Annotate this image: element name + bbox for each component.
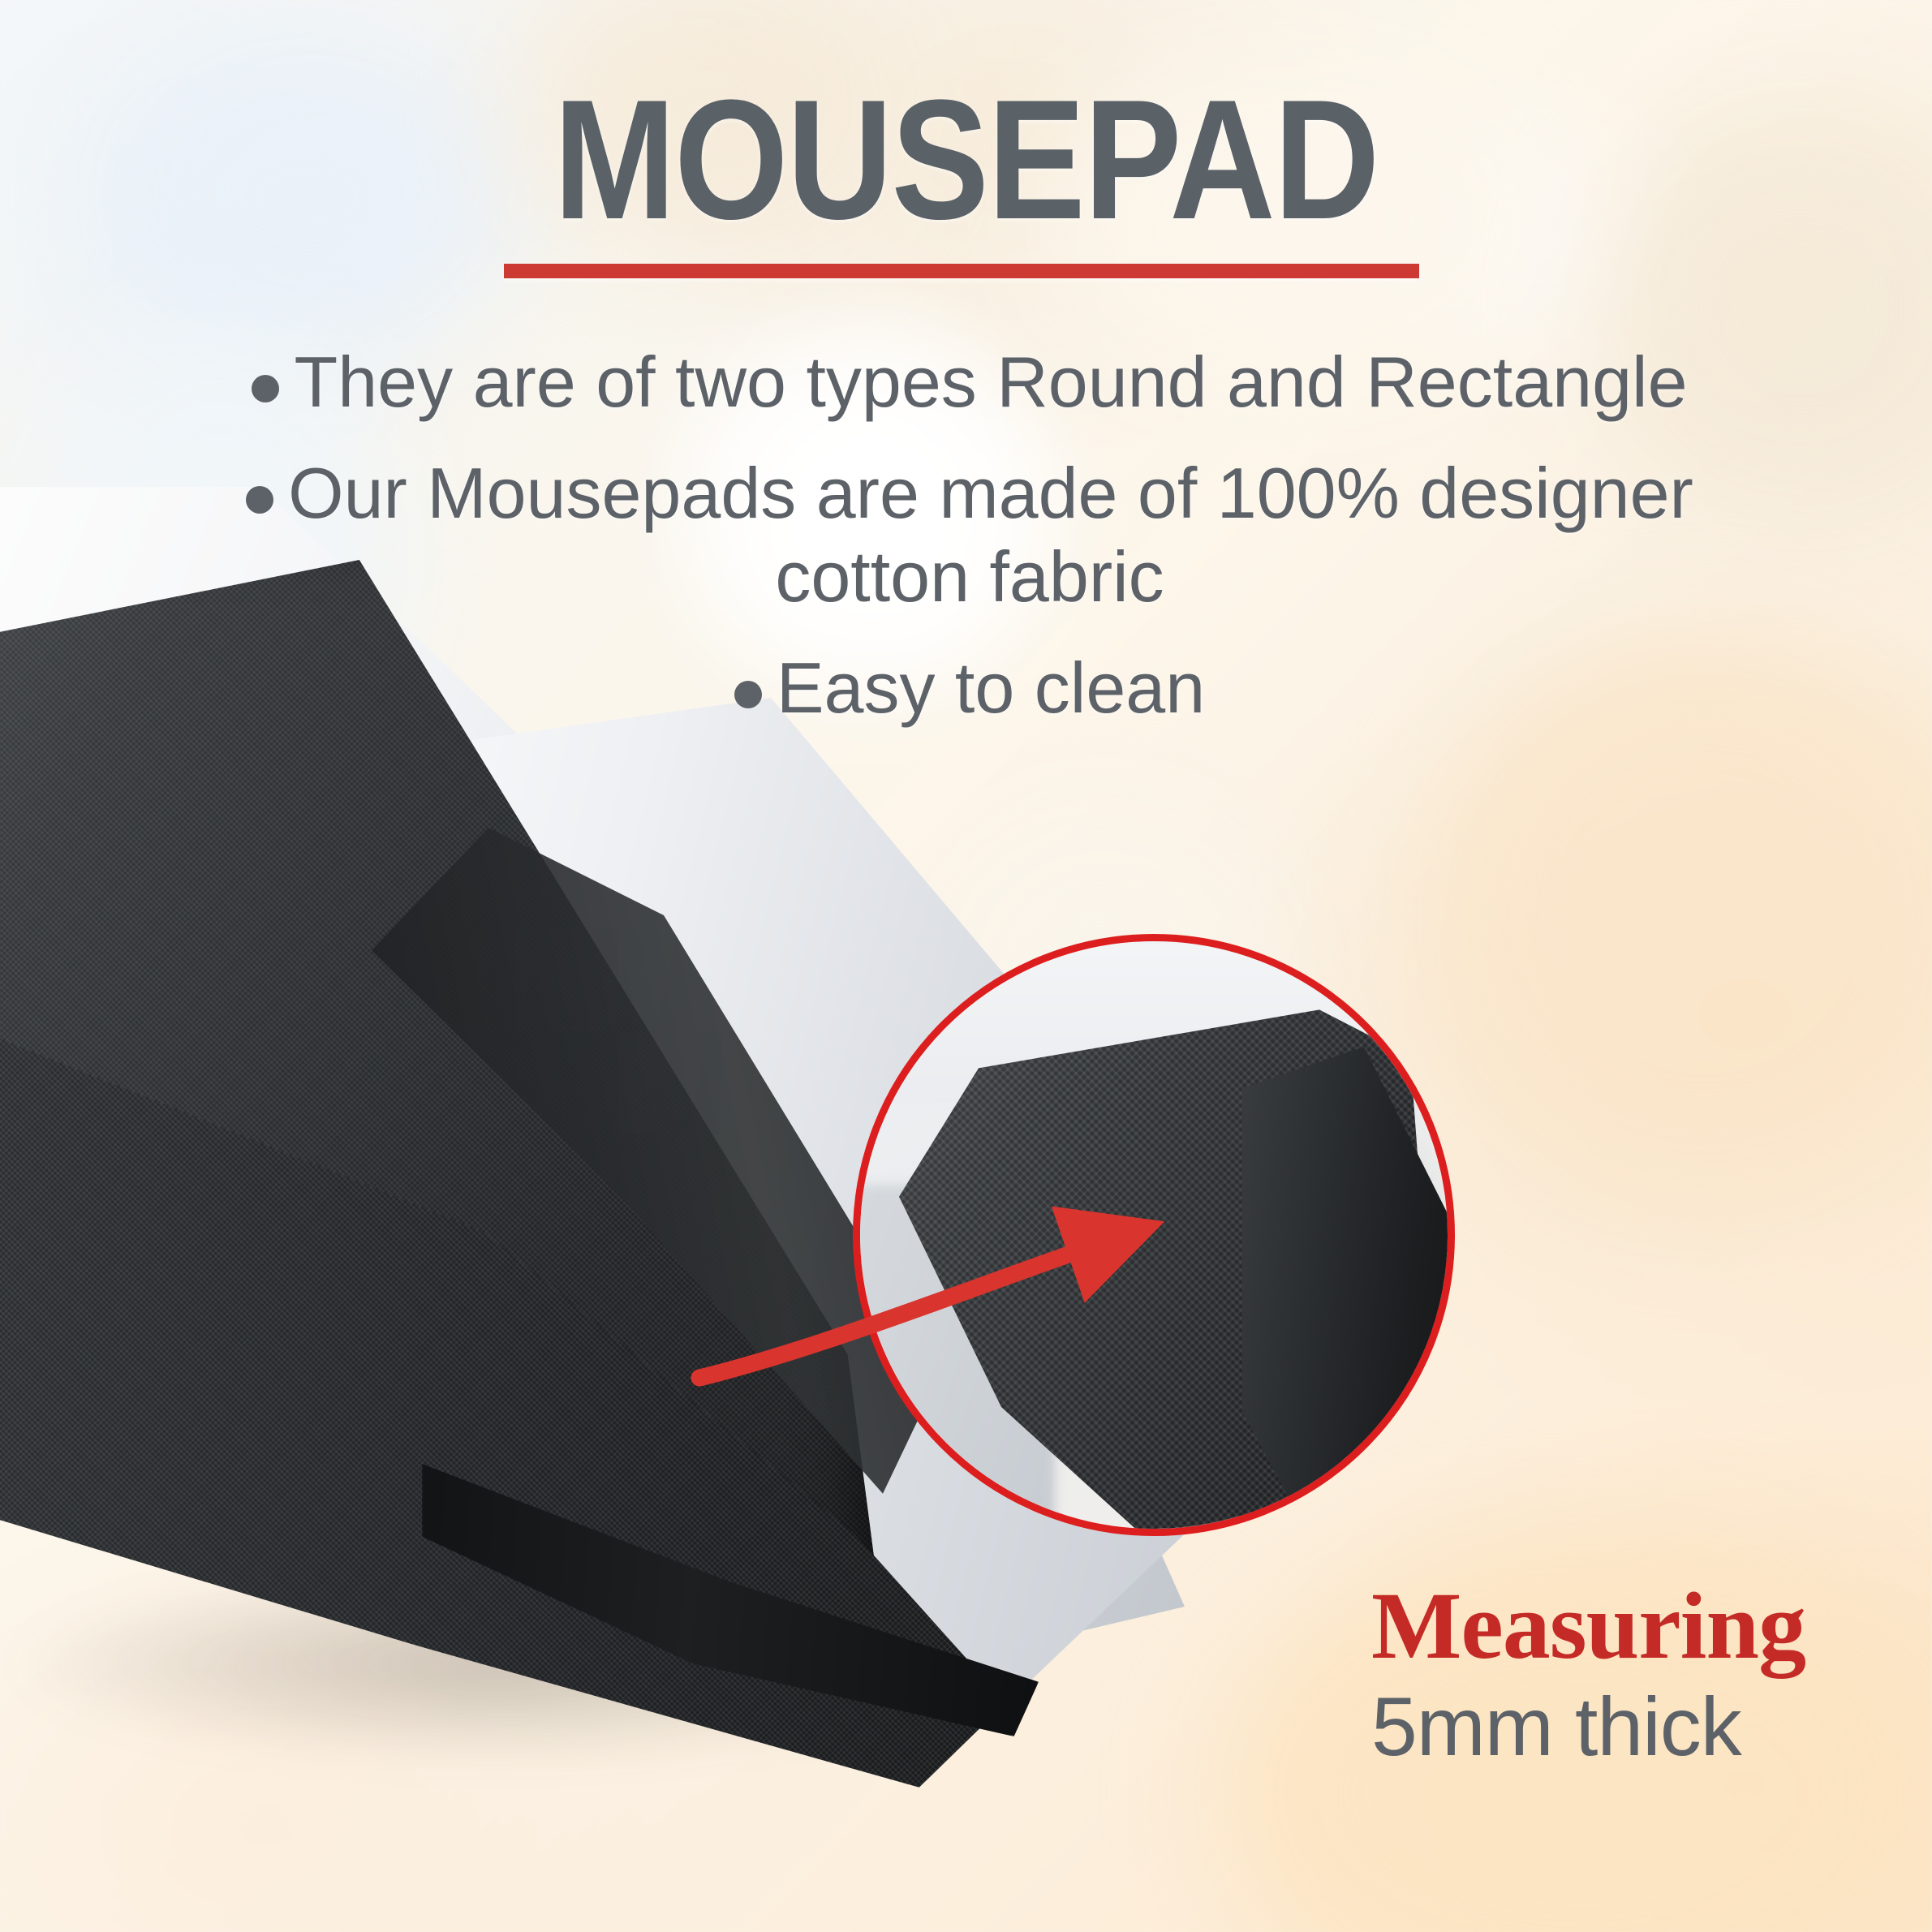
list-item-label: Our Mousepads are made of 100% designer … (288, 453, 1693, 617)
page-title-block: MOUSEPAD (0, 75, 1932, 245)
list-item-label: Easy to clean (777, 648, 1205, 728)
bullet-dot-icon (734, 681, 762, 708)
bullet-dot-icon (246, 486, 273, 514)
list-item: Easy to clean (243, 647, 1696, 730)
infographic-canvas: MOUSEPAD They are of two types Round and… (0, 0, 1932, 1932)
page-title: MOUSEPAD (136, 75, 1797, 245)
bullet-dot-icon (252, 375, 279, 402)
measurement-caption: Measuring 5mm thick (1371, 1578, 1858, 1768)
callout-arrow-icon (649, 1160, 1201, 1428)
list-item-label: They are of two types Round and Rectangl… (294, 342, 1687, 422)
list-item: Our Mousepads are made of 100% designer … (243, 452, 1696, 619)
measurement-headline: Measuring (1371, 1578, 1858, 1674)
feature-list: They are of two types Round and Rectangl… (243, 341, 1696, 758)
list-item: They are of two types Round and Rectangl… (243, 341, 1696, 424)
title-underline-rule (504, 264, 1419, 278)
measurement-value: 5mm thick (1371, 1685, 1858, 1768)
